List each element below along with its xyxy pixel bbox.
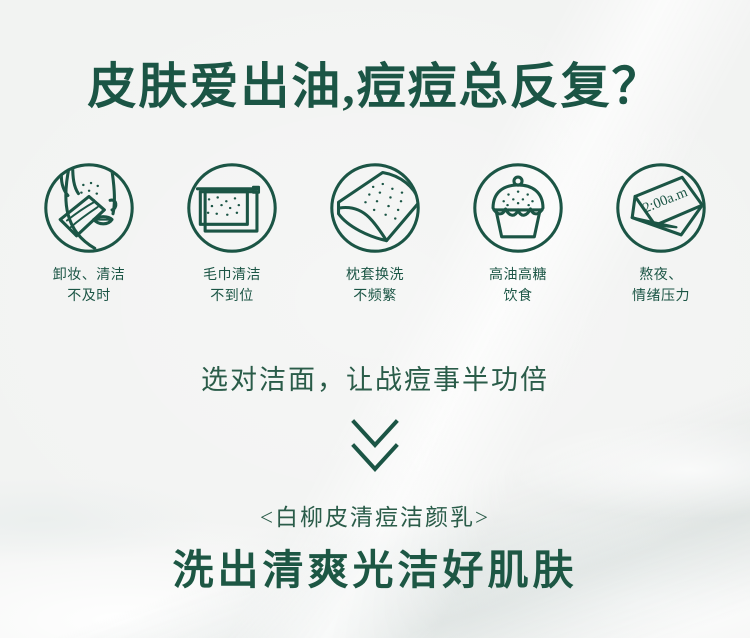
cause-label: 高油高糖 饮食: [489, 265, 547, 307]
face-cleansing-wipe-icon: [41, 160, 137, 256]
cause-label: 熬夜、 情绪压力: [632, 265, 690, 307]
cause-label: 卸妆、清洁 不及时: [53, 265, 126, 307]
headline: 皮肤爱出油,痘痘总反复？: [0, 58, 750, 117]
pillow-icon: [327, 160, 423, 256]
cause-item-diet: 高油高糖 饮食: [453, 160, 583, 307]
double-chevron-down-icon: [345, 418, 405, 476]
cause-item-towel: 毛巾清洁 不到位: [167, 160, 297, 307]
product-claim: 洗出清爽光洁好肌肤: [0, 536, 750, 596]
cause-item-late-night: 2:00a.m 熬夜、 情绪压力: [596, 160, 726, 307]
product-name: <白柳皮清痘洁颜乳>: [0, 498, 750, 532]
tagline: 选对洁面，让战痘事半功倍: [0, 358, 750, 397]
cause-item-cleansing: 卸妆、清洁 不及时: [24, 160, 154, 307]
cause-item-pillow: 枕套换洗 不频繁: [310, 160, 440, 307]
hanging-towel-icon: [184, 160, 280, 256]
cause-label: 枕套换洗 不频繁: [346, 265, 404, 307]
laptop-screen-time-text: 2:00a.m: [641, 184, 690, 216]
cupcake-icon: [470, 160, 566, 256]
cause-label: 毛巾清洁 不到位: [203, 265, 261, 307]
cause-icon-row: 卸妆、清洁 不及时: [24, 160, 726, 307]
promo-poster: 皮肤爱出油,痘痘总反复？: [0, 0, 750, 638]
laptop-late-night-icon: 2:00a.m: [613, 160, 709, 256]
